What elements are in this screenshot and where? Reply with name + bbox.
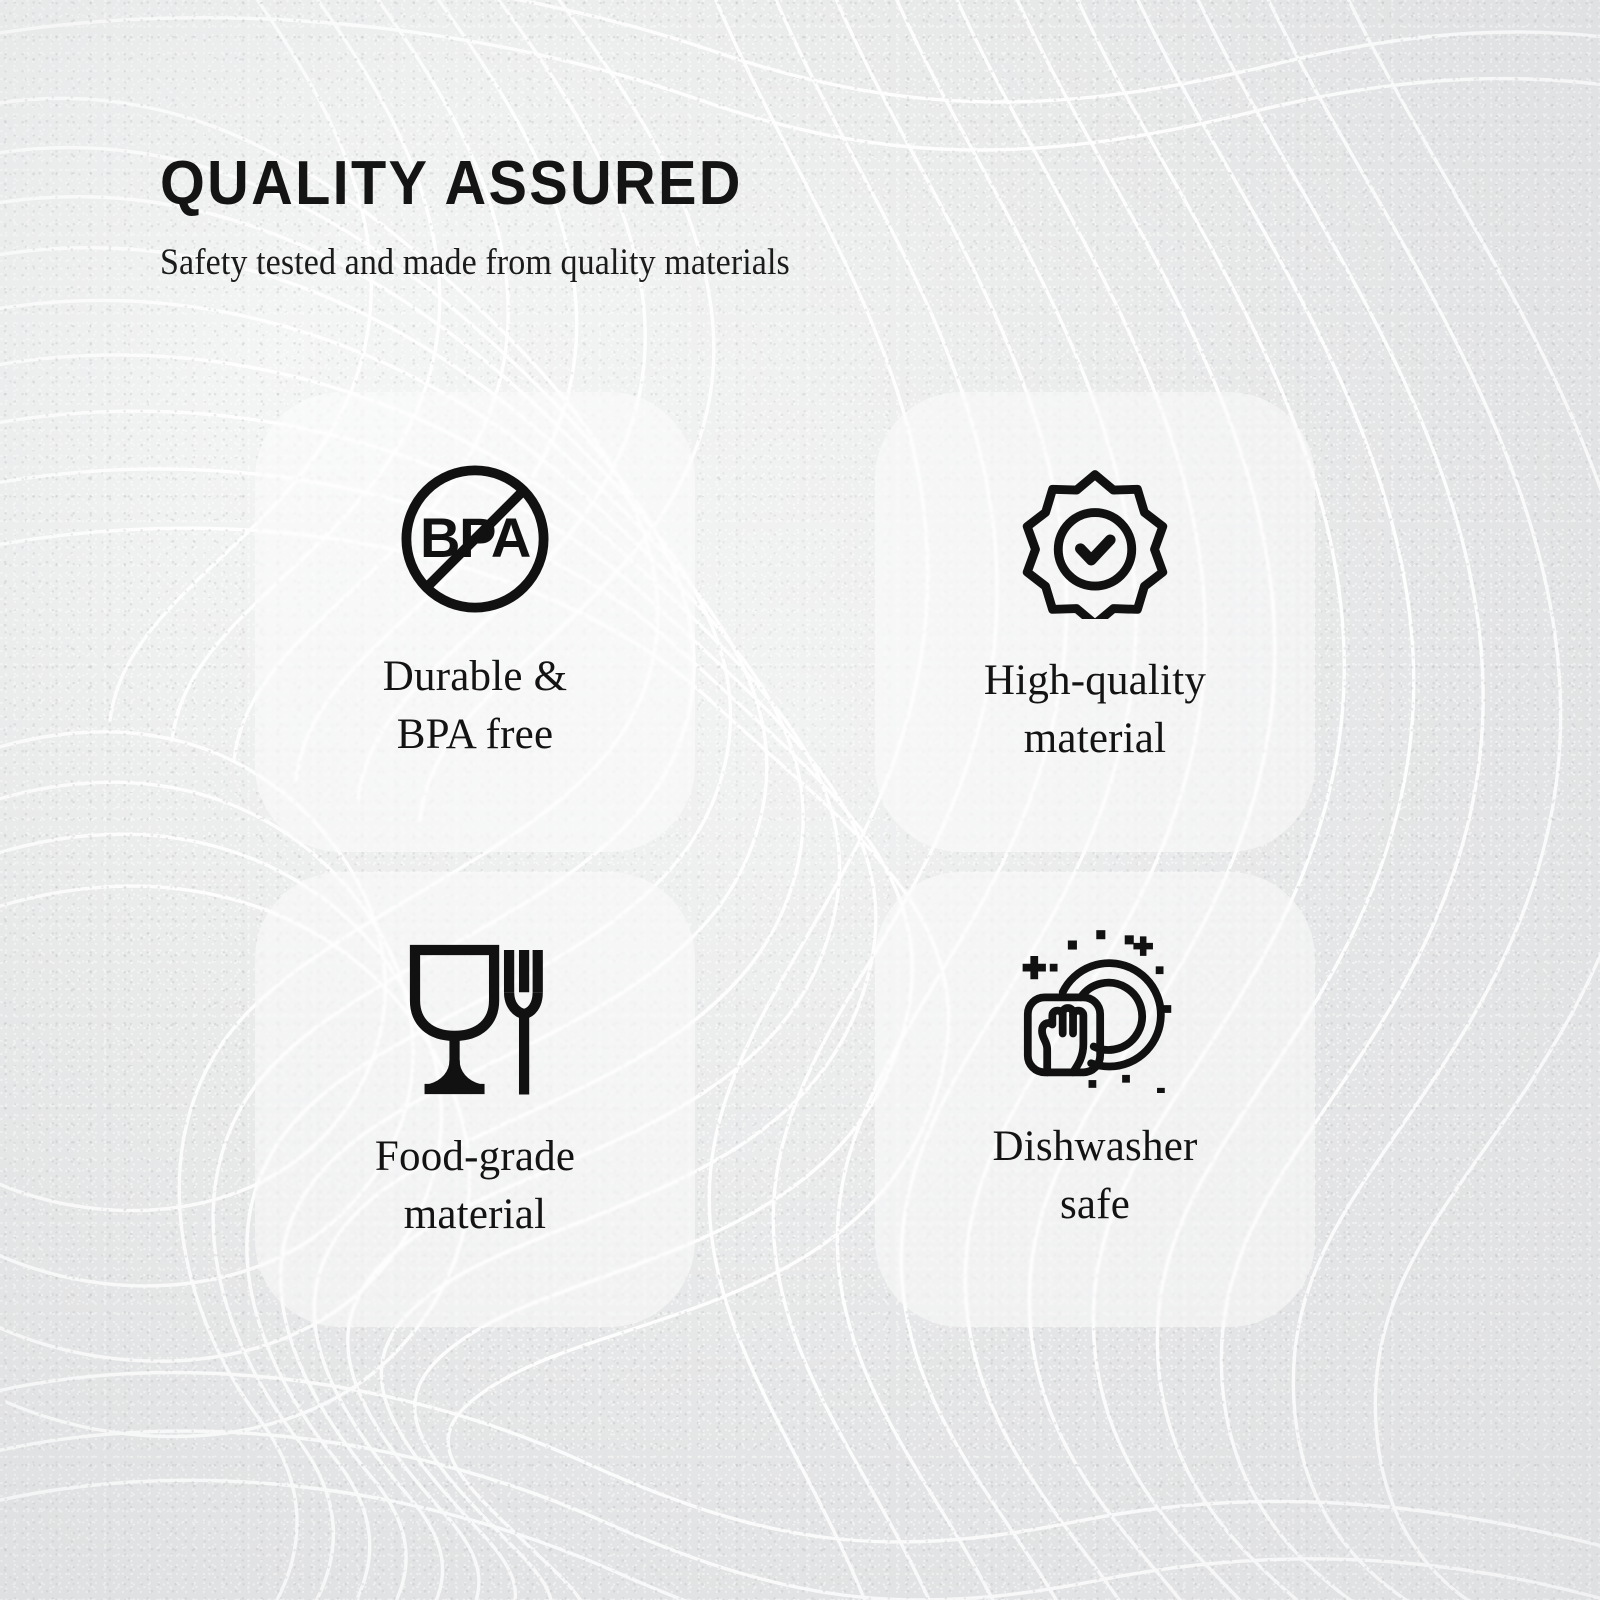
feature-card-grid: BPA Durable & BPA free High-quality mate… — [255, 392, 1315, 1327]
feature-card-dishwasher-safe[interactable]: Dishwasher safe — [875, 872, 1315, 1327]
page-subtitle: Safety tested and made from quality mate… — [160, 241, 1172, 284]
feature-card-label: High-quality material — [984, 652, 1206, 769]
feature-label-line-2: safe — [992, 1176, 1197, 1234]
svg-text:BPA: BPA — [420, 506, 530, 569]
page-title: QUALITY ASSURED — [160, 152, 1183, 215]
feature-label-line-2: BPA free — [383, 706, 568, 764]
feature-card-label: Dishwasher safe — [992, 1118, 1197, 1235]
feature-label-line-2: material — [375, 1186, 575, 1244]
dishwasher-safe-icon — [1011, 924, 1179, 1094]
feature-card-food-grade-material[interactable]: Food-grade material — [255, 872, 695, 1327]
glass-and-fork-food-safe-icon — [400, 934, 550, 1104]
feature-card-label: Food-grade material — [375, 1128, 575, 1245]
no-bpa-icon: BPA — [391, 454, 559, 624]
infographic-canvas: QUALITY ASSURED Safety tested and made f… — [0, 0, 1600, 1600]
feature-label-line-2: material — [984, 710, 1206, 768]
header-block: QUALITY ASSURED Safety tested and made f… — [160, 152, 1260, 284]
feature-label-line-1: Durable & — [383, 648, 568, 706]
feature-card-label: Durable & BPA free — [383, 648, 568, 765]
quality-badge-check-icon — [1019, 458, 1171, 628]
feature-label-line-1: Dishwasher — [992, 1118, 1197, 1176]
feature-label-line-1: Food-grade — [375, 1128, 575, 1186]
feature-card-durable-bpa-free[interactable]: BPA Durable & BPA free — [255, 392, 695, 852]
feature-card-high-quality-material[interactable]: High-quality material — [875, 392, 1315, 852]
feature-label-line-1: High-quality — [984, 652, 1206, 710]
